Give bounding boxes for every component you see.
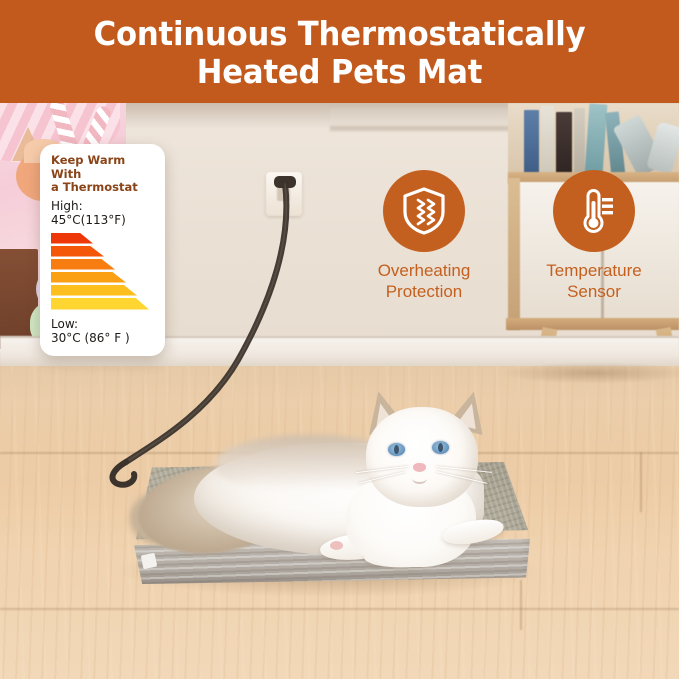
feature-temperature-sensor: Temperature Sensor: [519, 170, 669, 302]
feature-label-line-1: Overheating: [349, 260, 499, 281]
high-label: High:: [51, 199, 154, 214]
book: [574, 108, 585, 174]
gradient-band-4: [51, 272, 126, 283]
cat-pupil: [394, 445, 399, 454]
feature-overheating-protection: Overheating Protection: [349, 170, 499, 302]
high-temp-block: High: 45°C(113°F): [51, 199, 154, 228]
gradient-band-3: [51, 259, 115, 270]
low-label: Low:: [51, 317, 154, 332]
floor-plank-seam: [0, 608, 679, 610]
feature-label: Temperature Sensor: [519, 260, 669, 302]
title-line-1: Continuous Thermostatically: [94, 14, 586, 53]
low-value: 30°C (86° F ): [51, 331, 154, 346]
feature-label: Overheating Protection: [349, 260, 499, 302]
high-value: 45°C(113°F): [51, 213, 154, 228]
gradient-band-6: [51, 298, 149, 310]
low-temp-block: Low: 30°C (86° F ): [51, 317, 154, 346]
ragdoll-cat: [150, 385, 550, 585]
power-plug: [274, 176, 296, 188]
card-title-line-2: a Thermostat: [51, 181, 154, 195]
cabinet-shadow: [500, 362, 679, 384]
card-title: Keep Warm With a Thermostat: [51, 154, 154, 195]
floor-plank-seam: [640, 452, 642, 512]
gradient-band-1: [51, 233, 93, 244]
cat-nose: [413, 463, 426, 472]
cat-mouth: [412, 473, 427, 484]
gradient-band-2: [51, 246, 104, 257]
header-banner: Continuous Thermostatically Heated Pets …: [0, 0, 679, 103]
cabinet-base: [506, 318, 679, 330]
thermostat-info-card: Keep Warm With a Thermostat High: 45°C(1…: [40, 144, 165, 356]
cat-pupil: [438, 443, 443, 452]
book: [524, 110, 539, 174]
temperature-gradient-chart: [51, 233, 151, 310]
cat-head: [366, 407, 478, 507]
page-title: Continuous Thermostatically Heated Pets …: [24, 0, 655, 91]
thermometer-icon: [553, 170, 635, 252]
book: [541, 106, 554, 174]
shield-heatwave-icon: [383, 170, 465, 252]
title-line-2: Heated Pets Mat: [24, 53, 655, 91]
feature-label-line-2: Sensor: [519, 281, 669, 302]
outlet-socket: [277, 186, 290, 201]
feature-label-line-1: Temperature: [519, 260, 669, 281]
book: [556, 112, 572, 174]
cat-paw-pad: [330, 541, 343, 550]
card-title-line-1: Keep Warm With: [51, 154, 154, 181]
gradient-band-5: [51, 285, 137, 296]
feature-label-line-2: Protection: [349, 281, 499, 302]
product-image: Continuous Thermostatically Heated Pets …: [0, 0, 679, 679]
